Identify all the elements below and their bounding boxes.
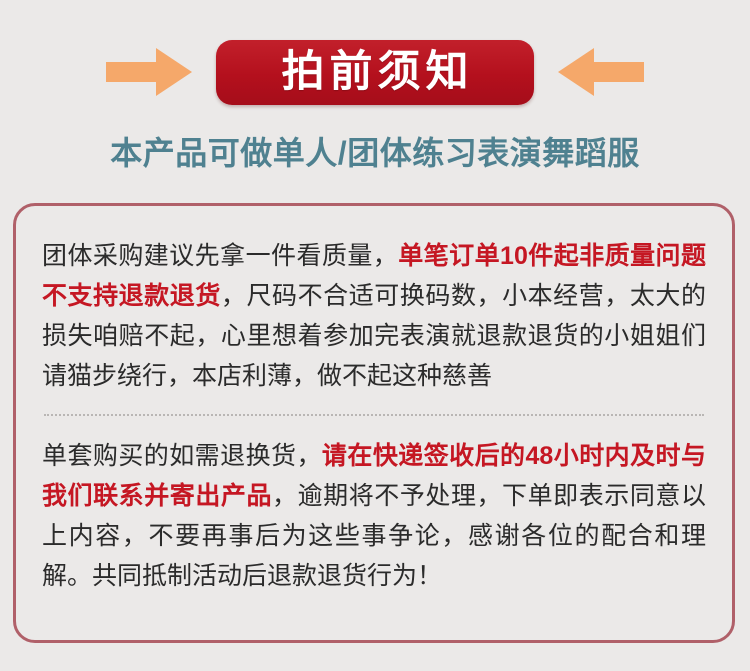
paragraph-1-segment-1: 团体采购建议先拿一件看质量， [42,242,398,270]
arrow-left-icon [558,46,644,98]
arrow-right-icon [106,46,192,98]
header-row: 拍前须知 [0,30,750,114]
title-banner: 拍前须知 [216,40,534,105]
subtitle-text: 本产品可做单人/团体练习表演舞蹈服 [0,133,750,175]
section-divider [44,414,704,416]
notice-content-box: 团体采购建议先拿一件看质量，单笔订单10件起非质量问题不支持退款退货，尺码不合适… [13,203,735,643]
paragraph-group-purchase-notice: 团体采购建议先拿一件看质量，单笔订单10件起非质量问题不支持退款退货，尺码不合适… [42,236,706,396]
paragraph-2-segment-1: 单套购买的如需退换货， [42,442,322,470]
title-banner-text: 拍前须知 [277,51,474,94]
paragraph-single-set-return-notice: 单套购买的如需退换货，请在快递签收后的48小时内及时与我们联系并寄出产品，逾期将… [42,436,706,596]
